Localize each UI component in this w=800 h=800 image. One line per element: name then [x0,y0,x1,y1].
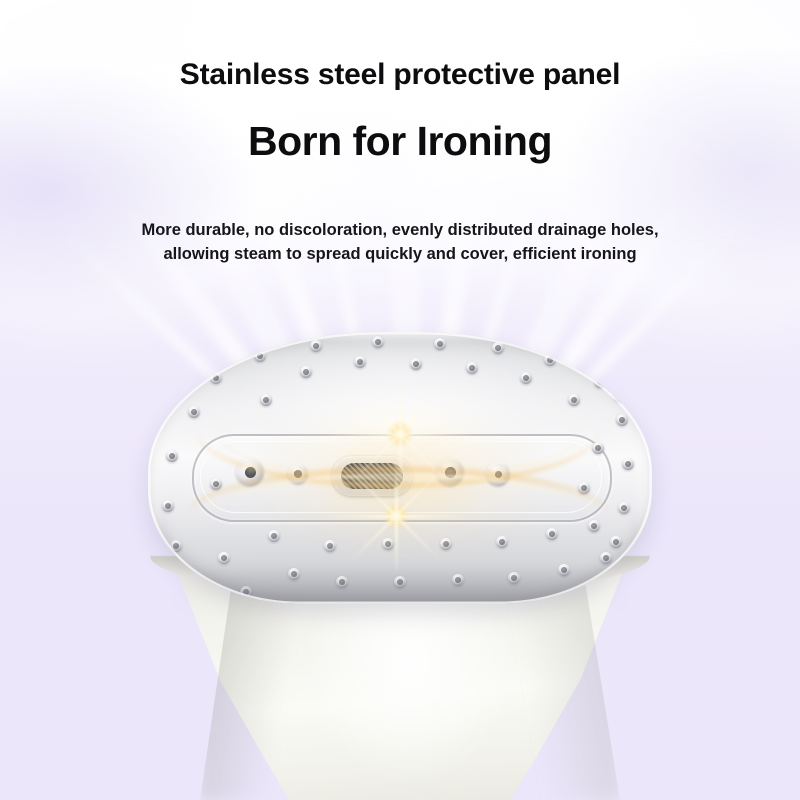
product-marketing-image: Stainless steel protective panel Born fo… [0,0,800,800]
iron-body-highlight [300,600,520,790]
page-title: Born for Ironing [0,118,800,165]
subcopy-line-2: allowing steam to spread quickly and cov… [0,242,800,266]
flare-arc-top-inner [214,378,586,480]
flare-arc-bottom-inner [206,474,594,560]
kicker-heading: Stainless steel protective panel [0,58,800,92]
subcopy: More durable, no discoloration, evenly d… [0,218,800,266]
subcopy-line-1: More durable, no discoloration, evenly d… [0,218,800,242]
